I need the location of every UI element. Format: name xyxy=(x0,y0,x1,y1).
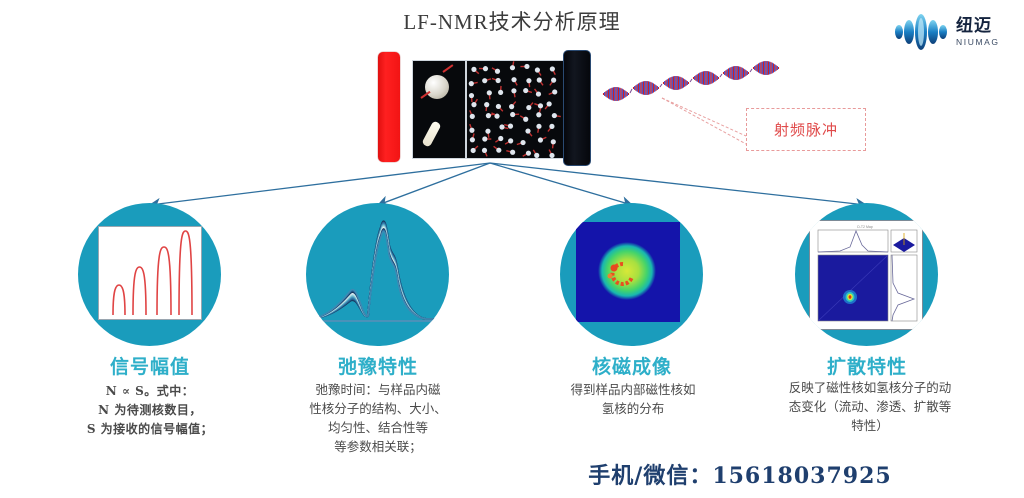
slide-canvas: LF-NMR技术分析原理 纽迈 NIU xyxy=(0,0,1024,498)
contact-info: 手机/微信：15618037925 xyxy=(560,458,920,490)
spin-arrow-icon xyxy=(442,64,453,73)
page-title: LF-NMR技术分析原理 xyxy=(0,6,1024,36)
brand-logo: 纽迈 NIUMAG xyxy=(892,10,1010,54)
card-body-signal-amplitude: N ∝ S。式中： N 为待测核数目， S 为接收的信号幅值； xyxy=(30,382,270,439)
card-icon-mri[interactable] xyxy=(560,203,703,346)
card-icon-diffusion[interactable]: D-T2 Map xyxy=(795,203,938,346)
mri-image-icon xyxy=(576,222,680,322)
peak-chart-icon xyxy=(98,226,202,320)
card-body-diffusion: 反映了磁性核如氢核分子的动 态变化（流动、渗透、扩散等 特性） xyxy=(760,378,980,435)
card-body-relaxation: 弛豫时间：与样品内磁 性核分子的结构、大小、 均匀性、结合性等 等参数相关联； xyxy=(278,380,478,456)
card-icon-signal-amplitude[interactable] xyxy=(78,203,221,346)
logo-name-cn: 纽迈 xyxy=(956,18,1000,35)
sound-wave-icon xyxy=(892,12,950,52)
svg-text:D-T2 Map: D-T2 Map xyxy=(857,225,873,229)
magnet-pole-north xyxy=(378,52,400,162)
diffusion-map-icon: D-T2 Map xyxy=(809,220,923,330)
card-heading-signal-amplitude: 信号幅值 xyxy=(40,352,260,379)
logo-wordmark: 纽迈 NIUMAG xyxy=(956,18,1000,47)
relaxation-curves-icon xyxy=(306,203,449,346)
card-icon-relaxation[interactable] xyxy=(306,203,449,346)
rf-pulse-callout: 射频脉冲 xyxy=(746,108,866,151)
card-heading-relaxation: 弛豫特性 xyxy=(268,352,488,379)
rod-sample xyxy=(421,120,441,147)
spin-field-panel xyxy=(466,60,564,159)
magnet-pole-south xyxy=(563,50,591,166)
card-heading-diffusion: 扩散特性 xyxy=(757,352,977,379)
logo-name-en: NIUMAG xyxy=(956,38,1000,47)
sphere-sample xyxy=(425,75,449,99)
card-heading-mri: 核磁成像 xyxy=(522,352,742,379)
card-body-mri: 得到样品内部磁性核如 氢核的分布 xyxy=(540,380,726,418)
sample-panel xyxy=(412,60,466,159)
